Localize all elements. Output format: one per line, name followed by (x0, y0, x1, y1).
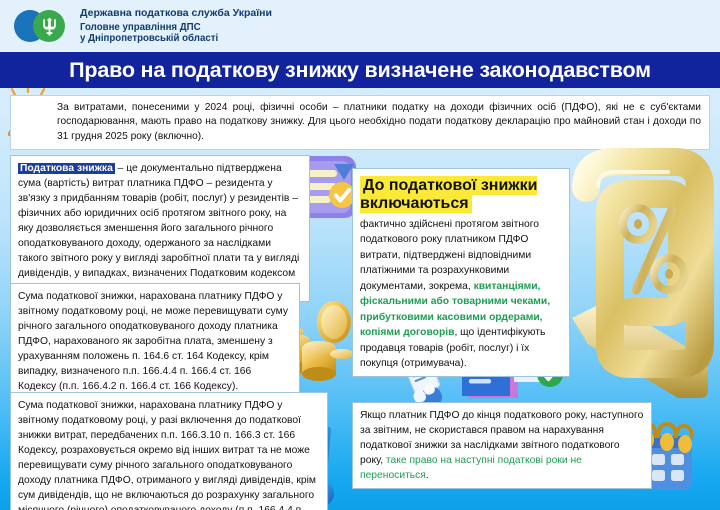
trident-icon (42, 17, 57, 36)
definition-paragraph: Податкова знижка – це документально підт… (18, 161, 302, 296)
intro-callout: За витратами, понесеними у 2024 році, фі… (10, 95, 710, 150)
carry-part-2: . (426, 470, 429, 481)
definition-body: – це документально підтверджена сума (ва… (18, 163, 299, 294)
intro-text: За витратами, понесеними у 2024 році, фі… (57, 101, 701, 144)
org-line-3: у Дніпропетровській області (80, 33, 272, 45)
organization-name: Державна податкова служба України Головн… (80, 7, 272, 45)
org-line-1: Державна податкова служба України (80, 7, 272, 20)
logo-green-circle (33, 10, 65, 42)
card-dividends-rule: Сума податкової знижки, нарахована платн… (10, 392, 328, 510)
dividends-paragraph: Сума податкової знижки, нарахована платн… (18, 398, 320, 510)
gold-percent-symbol-icon (568, 148, 718, 400)
card-tax-discount-definition: Податкова знижка – це документально підт… (10, 155, 310, 302)
included-paragraph: фактично здійснені протягом звітного под… (360, 217, 562, 371)
page-title: Право на податкову знижку визначене зако… (69, 58, 651, 83)
card-what-is-included: До податкової знижки включаються фактичн… (352, 168, 570, 377)
page-title-bar: Право на податкову знижку визначене зако… (0, 52, 720, 88)
page-header: Державна податкова служба України Головн… (0, 0, 720, 52)
carry-green-text: таке право на наступні податкові роки не… (360, 455, 582, 481)
included-heading: До податкової знижки включаються (360, 176, 537, 213)
definition-highlight: Податкова знижка (18, 163, 115, 174)
org-line-2: Головне управління ДПС (80, 22, 272, 34)
dps-logo (14, 6, 72, 46)
card-discount-limit: Сума податкової знижки, нарахована платн… (10, 283, 300, 400)
carry-paragraph: Якщо платник ПДФО до кінця податкового р… (360, 408, 644, 483)
limit-paragraph: Сума податкової знижки, нарахована платн… (18, 289, 292, 394)
card-no-carryover: Якщо платник ПДФО до кінця податкового р… (352, 402, 652, 489)
included-heading-wrap: До податкової знижки включаються (360, 177, 562, 213)
infographic-page: Державна податкова служба України Головн… (0, 0, 720, 510)
